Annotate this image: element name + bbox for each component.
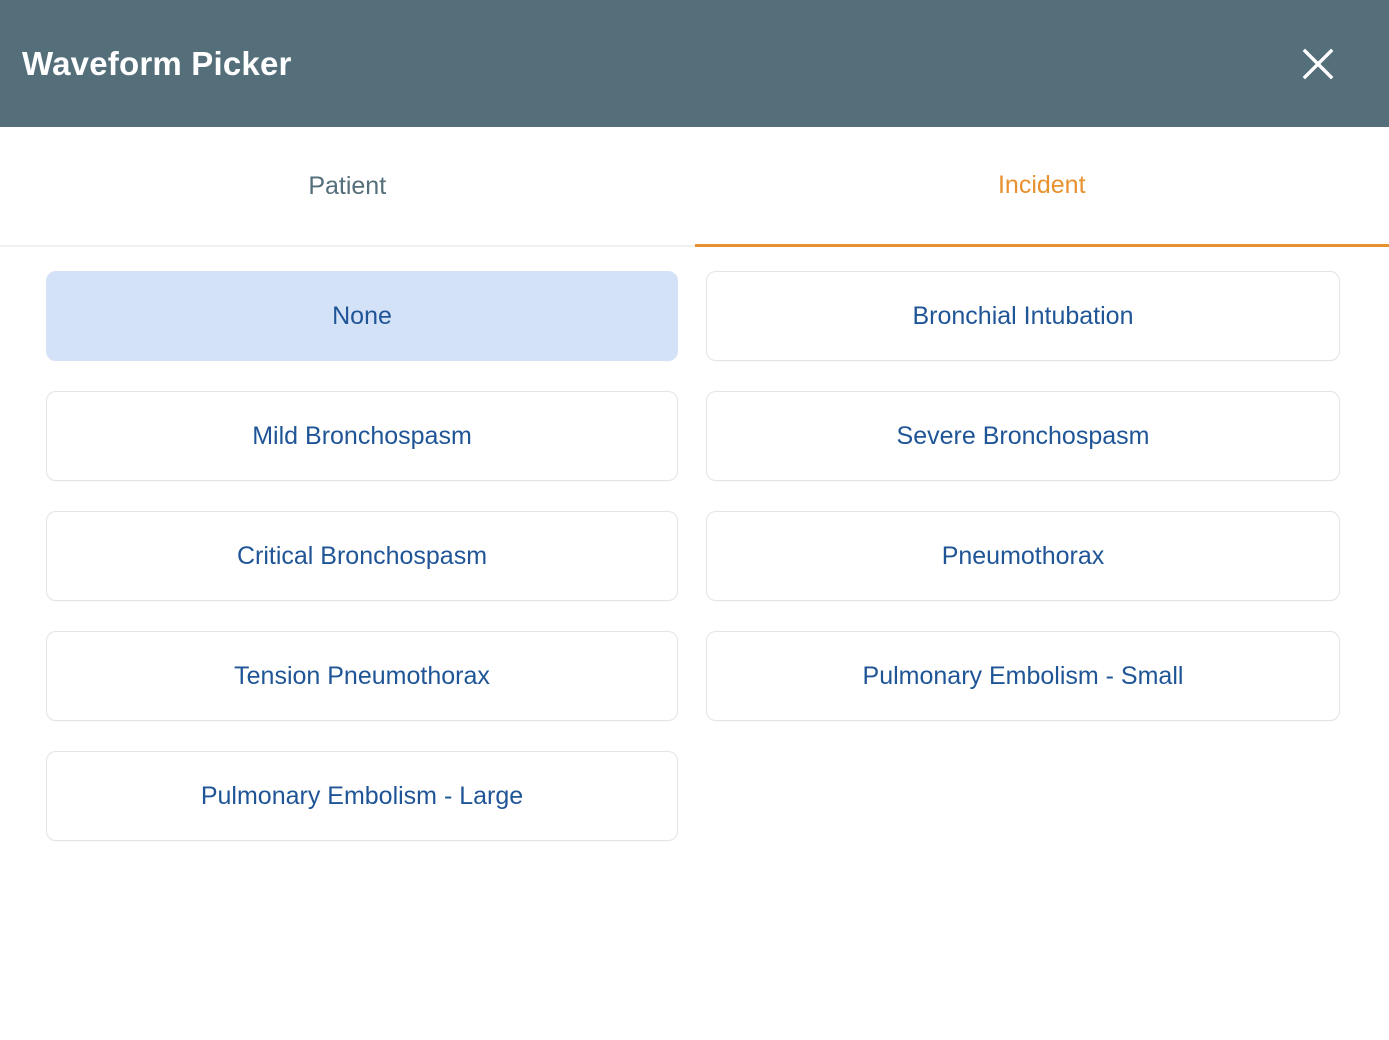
options-panel: None Bronchial Intubation Mild Bronchosp…	[0, 247, 1389, 1040]
dialog-titlebar: Waveform Picker	[0, 0, 1389, 127]
waveform-option-label: Bronchial Intubation	[913, 302, 1134, 331]
waveform-option-label: Tension Pneumothorax	[234, 662, 490, 691]
waveform-option-label: Severe Bronchospasm	[897, 422, 1150, 451]
tab-patient-label: Patient	[308, 172, 386, 201]
page-title: Waveform Picker	[22, 47, 292, 80]
waveform-option-label: Pulmonary Embolism - Large	[201, 782, 523, 811]
waveform-option-none[interactable]: None	[46, 271, 678, 361]
waveform-option-critical-bronchospasm[interactable]: Critical Bronchospasm	[46, 511, 678, 601]
waveform-option-severe-bronchospasm[interactable]: Severe Bronchospasm	[706, 391, 1340, 481]
waveform-option-pneumothorax[interactable]: Pneumothorax	[706, 511, 1340, 601]
waveform-option-mild-bronchospasm[interactable]: Mild Bronchospasm	[46, 391, 678, 481]
waveform-option-bronchial-intubation[interactable]: Bronchial Intubation	[706, 271, 1340, 361]
waveform-option-tension-pneumothorax[interactable]: Tension Pneumothorax	[46, 631, 678, 721]
close-button[interactable]	[1291, 37, 1345, 91]
waveform-option-label: Pulmonary Embolism - Small	[863, 662, 1184, 691]
waveform-picker-dialog: Waveform Picker Patient Incident None Br…	[0, 0, 1389, 1040]
waveform-options-grid: None Bronchial Intubation Mild Bronchosp…	[46, 271, 1340, 841]
tab-incident[interactable]: Incident	[695, 127, 1389, 247]
tab-bar: Patient Incident	[0, 127, 1389, 247]
waveform-option-pulmonary-embolism-large[interactable]: Pulmonary Embolism - Large	[46, 751, 678, 841]
tab-patient[interactable]: Patient	[0, 127, 695, 247]
tab-incident-label: Incident	[998, 171, 1086, 200]
waveform-option-label: None	[332, 302, 392, 331]
waveform-option-label: Critical Bronchospasm	[237, 542, 487, 571]
waveform-option-label: Mild Bronchospasm	[252, 422, 472, 451]
waveform-option-pulmonary-embolism-small[interactable]: Pulmonary Embolism - Small	[706, 631, 1340, 721]
close-icon	[1301, 47, 1335, 81]
waveform-option-label: Pneumothorax	[942, 542, 1105, 571]
